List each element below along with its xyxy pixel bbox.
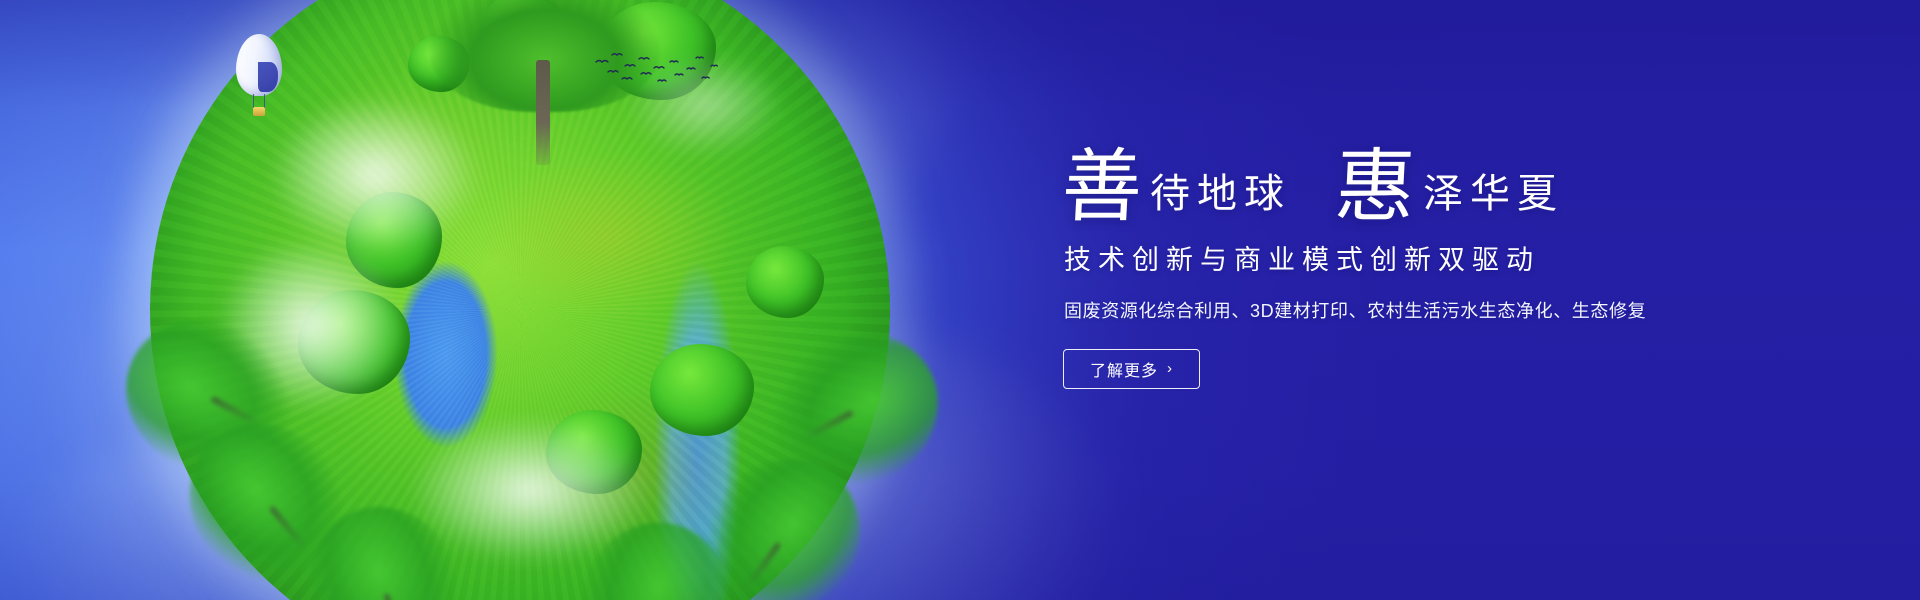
tree-blob-icon <box>746 246 824 318</box>
balloon-basket <box>253 107 265 116</box>
page-title: 善 待地球 惠 泽华夏 <box>1062 128 1682 224</box>
hero-banner: 善 待地球 惠 泽华夏 技术创新与商业模式创新双驱动 固废资源化综合利用、3D建… <box>0 0 1920 600</box>
headline-brush-char-2: 惠 <box>1333 150 1417 224</box>
banner-copy-block: 善 待地球 惠 泽华夏 技术创新与商业模式创新双驱动 固废资源化综合利用、3D建… <box>1062 128 1682 389</box>
balloon-envelope <box>236 34 282 96</box>
banner-subtitle: 技术创新与商业模式创新双驱动 <box>1064 238 1682 277</box>
banner-description: 固废资源化综合利用、3D建材打印、农村生活污水生态净化、生态修复 <box>1064 297 1682 323</box>
tree-blob-icon <box>650 344 754 436</box>
chevron-right-icon: › <box>1167 361 1173 376</box>
learn-more-label: 了解更多 <box>1090 357 1158 381</box>
headline-plain-text-1: 待地球 <box>1150 174 1291 224</box>
bird-flock-icon <box>592 50 722 90</box>
balloon-ropes <box>253 94 265 108</box>
tree-trunk <box>536 60 550 165</box>
headline-brush-char-1: 善 <box>1060 150 1144 224</box>
learn-more-button[interactable]: 了解更多 › <box>1063 349 1200 389</box>
headline-plain-text-2: 泽华夏 <box>1423 174 1564 224</box>
hot-air-balloon-icon <box>236 34 282 120</box>
